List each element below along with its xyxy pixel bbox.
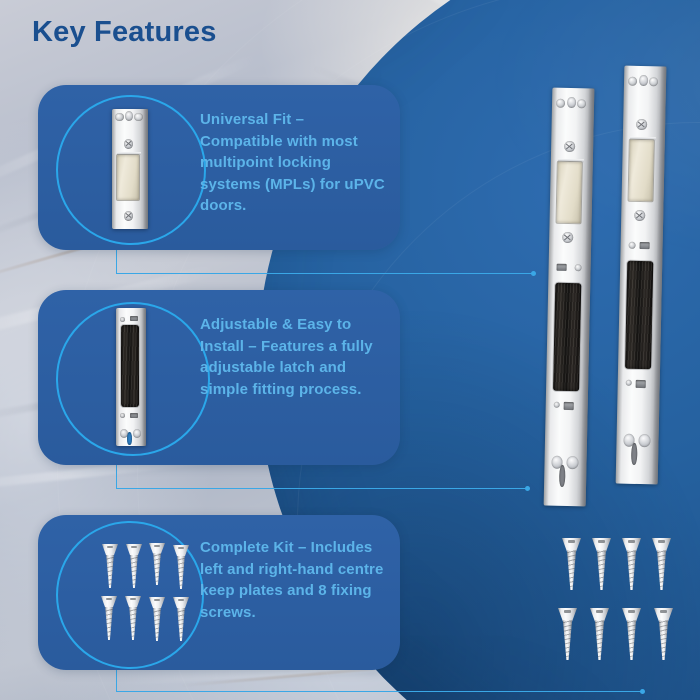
screw xyxy=(125,596,141,640)
screw xyxy=(558,608,577,660)
screw xyxy=(126,544,142,588)
screw xyxy=(590,608,609,660)
screw xyxy=(173,545,189,589)
infographic-canvas: Key Features Universal Fit – Compatible … xyxy=(0,0,700,700)
feature-card-text: Adjustable & Easy to Install – Features … xyxy=(200,314,396,400)
feature-card-adjustable-easy-install[interactable]: Adjustable & Easy to Install – Features … xyxy=(38,290,400,465)
screw xyxy=(101,596,117,640)
feature-card-text: Universal Fit – Compatible with most mul… xyxy=(200,109,388,217)
feature-card-universal-fit[interactable]: Universal Fit – Compatible with most mul… xyxy=(38,85,400,250)
keep-plate-front-photo xyxy=(112,109,148,229)
screw xyxy=(149,597,165,641)
keep-plate-right-hand xyxy=(616,66,667,485)
keep-plate-left-hand xyxy=(544,88,595,507)
page-title: Key Features xyxy=(32,16,217,49)
screw xyxy=(592,538,611,590)
screw xyxy=(562,538,581,590)
keep-plate-brush-photo xyxy=(116,308,146,446)
screw xyxy=(149,543,165,585)
eight-screws-photo xyxy=(74,541,184,646)
feature-card-complete-kit[interactable]: Complete Kit – Includes left and right-h… xyxy=(38,515,400,670)
screw xyxy=(173,597,189,641)
feature-card-text: Complete Kit – Includes left and right-h… xyxy=(200,537,396,623)
screw xyxy=(622,538,641,590)
screw xyxy=(622,608,641,660)
screw xyxy=(654,608,673,660)
screw xyxy=(102,544,118,588)
screw xyxy=(652,538,671,590)
